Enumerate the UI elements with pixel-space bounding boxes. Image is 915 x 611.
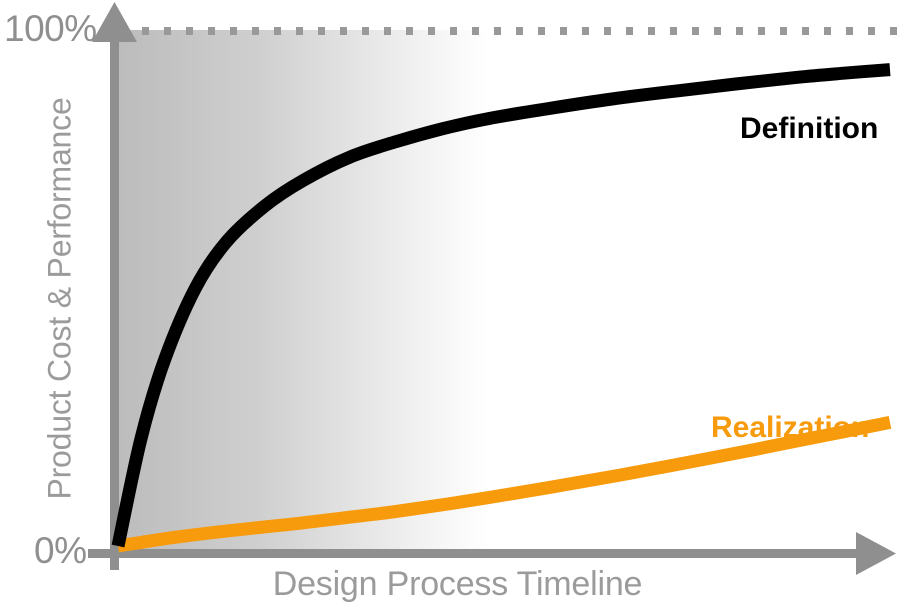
x-axis-title: Design Process Timeline [0, 565, 915, 604]
y-axis-arrow-icon [92, 2, 137, 42]
series-label-definition: Definition [740, 112, 878, 146]
chart-canvas [0, 0, 915, 611]
chart-container: 100% 0% Product Cost & Performance Desig… [0, 0, 915, 611]
series-label-realization: Realization [711, 411, 869, 445]
y-axis-title: Product Cost & Performance [42, 49, 79, 549]
y-axis-top-tick-label: 100% [4, 8, 97, 50]
shaded-region-early-design [118, 30, 489, 553]
